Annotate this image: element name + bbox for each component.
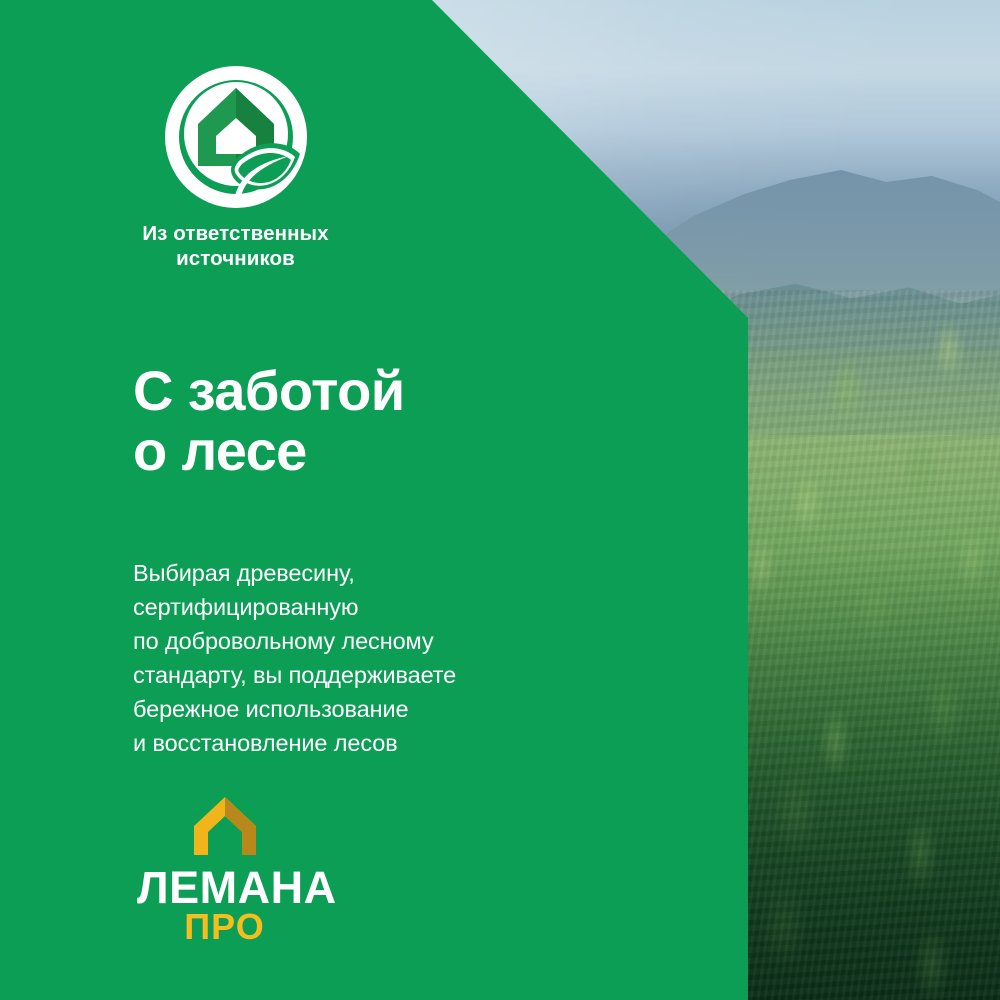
brand-subname: ПРО	[137, 910, 312, 944]
body-copy: Выбирая древесину, сертифицированную по …	[133, 556, 456, 760]
brand-name: ЛЕМАНА	[137, 867, 312, 908]
poster-canvas: Из ответственных источников С заботой о …	[0, 0, 1000, 1000]
responsible-sources-seal-icon	[161, 62, 311, 212]
page-title: С заботой о лесе	[133, 361, 405, 482]
responsible-sources-badge: Из ответственных источников	[128, 62, 343, 271]
lemana-pro-logo: ЛЕМАНА ПРО	[137, 793, 312, 945]
badge-caption: Из ответственных источников	[128, 222, 343, 271]
lemana-house-icon	[190, 793, 260, 863]
